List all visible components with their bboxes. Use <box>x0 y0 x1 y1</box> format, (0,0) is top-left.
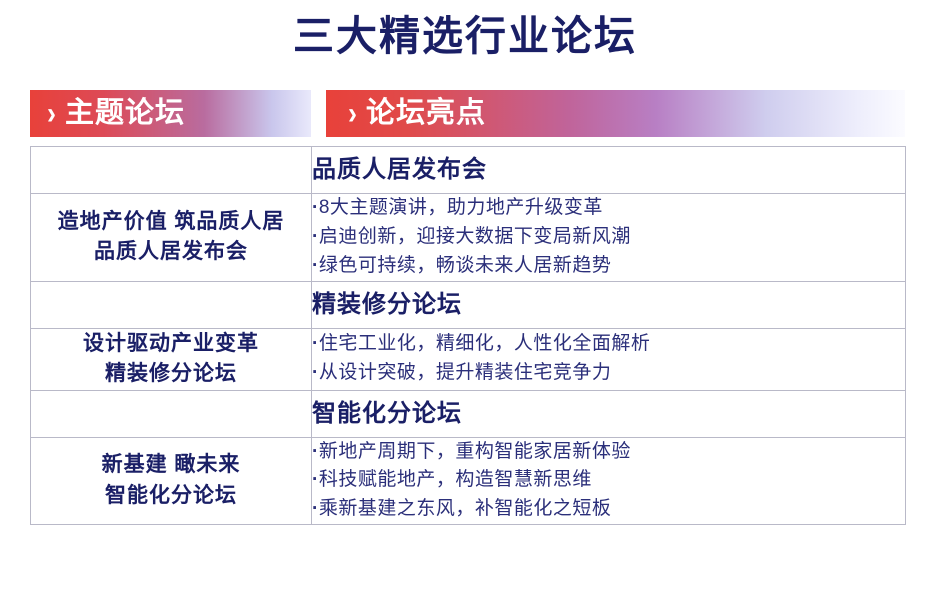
bullet-marker: · <box>312 498 319 519</box>
theme-cell: 设计驱动产业变革 精装修分论坛 <box>31 328 312 390</box>
list-item: ·住宅工业化，精细化，人性化全面解析 <box>312 330 905 359</box>
theme-line: 品质人居发布会 <box>31 237 311 267</box>
chevron-right-icon: › <box>348 98 357 129</box>
section-header-spacer <box>31 390 312 437</box>
list-item: ·科技赋能地产，构造智慧新思维 <box>312 466 905 495</box>
list-item: ·乘新基建之东风，补智能化之短板 <box>312 495 905 524</box>
section-title: 智能化分论坛 <box>312 400 462 427</box>
theme-cell: 造地产价值 筑品质人居 品质人居发布会 <box>31 194 312 282</box>
list-item: ·启迪创新，迎接大数据下变局新风潮 <box>312 223 905 252</box>
list-item-label: 启迪创新，迎接大数据下变局新风潮 <box>319 226 631 247</box>
page-title: 三大精选行业论坛 <box>0 0 930 52</box>
bullet-marker: · <box>312 362 319 383</box>
section-header-cell: 智能化分论坛 <box>312 390 906 437</box>
list-item-label: 科技赋能地产，构造智慧新思维 <box>319 469 592 490</box>
list-item: ·新地产周期下，重构智能家居新体验 <box>312 438 905 467</box>
theme-line: 新基建 瞰未来 <box>31 450 311 480</box>
theme-line: 设计驱动产业变革 <box>31 329 311 359</box>
list-item: ·从设计突破，提升精装住宅竞争力 <box>312 359 905 388</box>
table-row: 新基建 瞰未来 智能化分论坛 ·新地产周期下，重构智能家居新体验 ·科技赋能地产… <box>31 437 906 525</box>
highlights-cell: ·8大主题演讲，助力地产升级变革 ·启迪创新，迎接大数据下变局新风潮 ·绿色可持… <box>312 194 906 282</box>
highlights-cell: ·住宅工业化，精细化，人性化全面解析 ·从设计突破，提升精装住宅竞争力 <box>312 328 906 390</box>
theme-cell: 新基建 瞰未来 智能化分论坛 <box>31 437 312 525</box>
highlights-cell: ·新地产周期下，重构智能家居新体验 ·科技赋能地产，构造智慧新思维 ·乘新基建之… <box>312 437 906 525</box>
forum-table: 品质人居发布会 造地产价值 筑品质人居 品质人居发布会 ·8大主题演讲，助力地产… <box>30 146 906 525</box>
section-title: 精装修分论坛 <box>312 291 462 318</box>
list-item-label: 住宅工业化，精细化，人性化全面解析 <box>319 333 651 354</box>
bullet-marker: · <box>312 333 319 354</box>
table-row: 智能化分论坛 <box>31 390 906 437</box>
theme-line: 智能化分论坛 <box>31 481 311 511</box>
list-item-label: 乘新基建之东风，补智能化之短板 <box>319 498 612 519</box>
section-header-spacer <box>31 281 312 328</box>
theme-line: 精装修分论坛 <box>31 359 311 389</box>
list-item-label: 新地产周期下，重构智能家居新体验 <box>319 441 631 462</box>
table-row: 设计驱动产业变革 精装修分论坛 ·住宅工业化，精细化，人性化全面解析 ·从设计突… <box>31 328 906 390</box>
column-headers: › 主题论坛 › 论坛亮点 <box>30 90 905 137</box>
list-item-label: 8大主题演讲，助力地产升级变革 <box>319 197 603 218</box>
theme-line: 造地产价值 筑品质人居 <box>31 207 311 237</box>
section-title: 品质人居发布会 <box>312 156 487 183</box>
section-header-cell: 品质人居发布会 <box>312 147 906 194</box>
table-row: 精装修分论坛 <box>31 281 906 328</box>
chevron-right-icon: › <box>47 98 56 129</box>
list-item: ·绿色可持续，畅谈未来人居新趋势 <box>312 252 905 281</box>
list-item: ·8大主题演讲，助力地产升级变革 <box>312 194 905 223</box>
bullet-marker: · <box>312 226 319 247</box>
list-item-label: 从设计突破，提升精装住宅竞争力 <box>319 362 612 383</box>
list-item-label: 绿色可持续，畅谈未来人居新趋势 <box>319 255 612 276</box>
bullet-marker: · <box>312 469 319 490</box>
bullet-marker: · <box>312 255 319 276</box>
table-row: 造地产价值 筑品质人居 品质人居发布会 ·8大主题演讲，助力地产升级变革 ·启迪… <box>31 194 906 282</box>
bullet-marker: · <box>312 197 319 218</box>
section-header-spacer <box>31 147 312 194</box>
column-header-forum-highlights: › 论坛亮点 <box>326 90 905 137</box>
section-header-cell: 精装修分论坛 <box>312 281 906 328</box>
column-header-theme-forum: › 主题论坛 <box>30 90 311 137</box>
bullet-marker: · <box>312 441 319 462</box>
column-header-theme-forum-label: 主题论坛 <box>65 99 185 128</box>
column-header-forum-highlights-label: 论坛亮点 <box>366 99 486 128</box>
table-row: 品质人居发布会 <box>31 147 906 194</box>
